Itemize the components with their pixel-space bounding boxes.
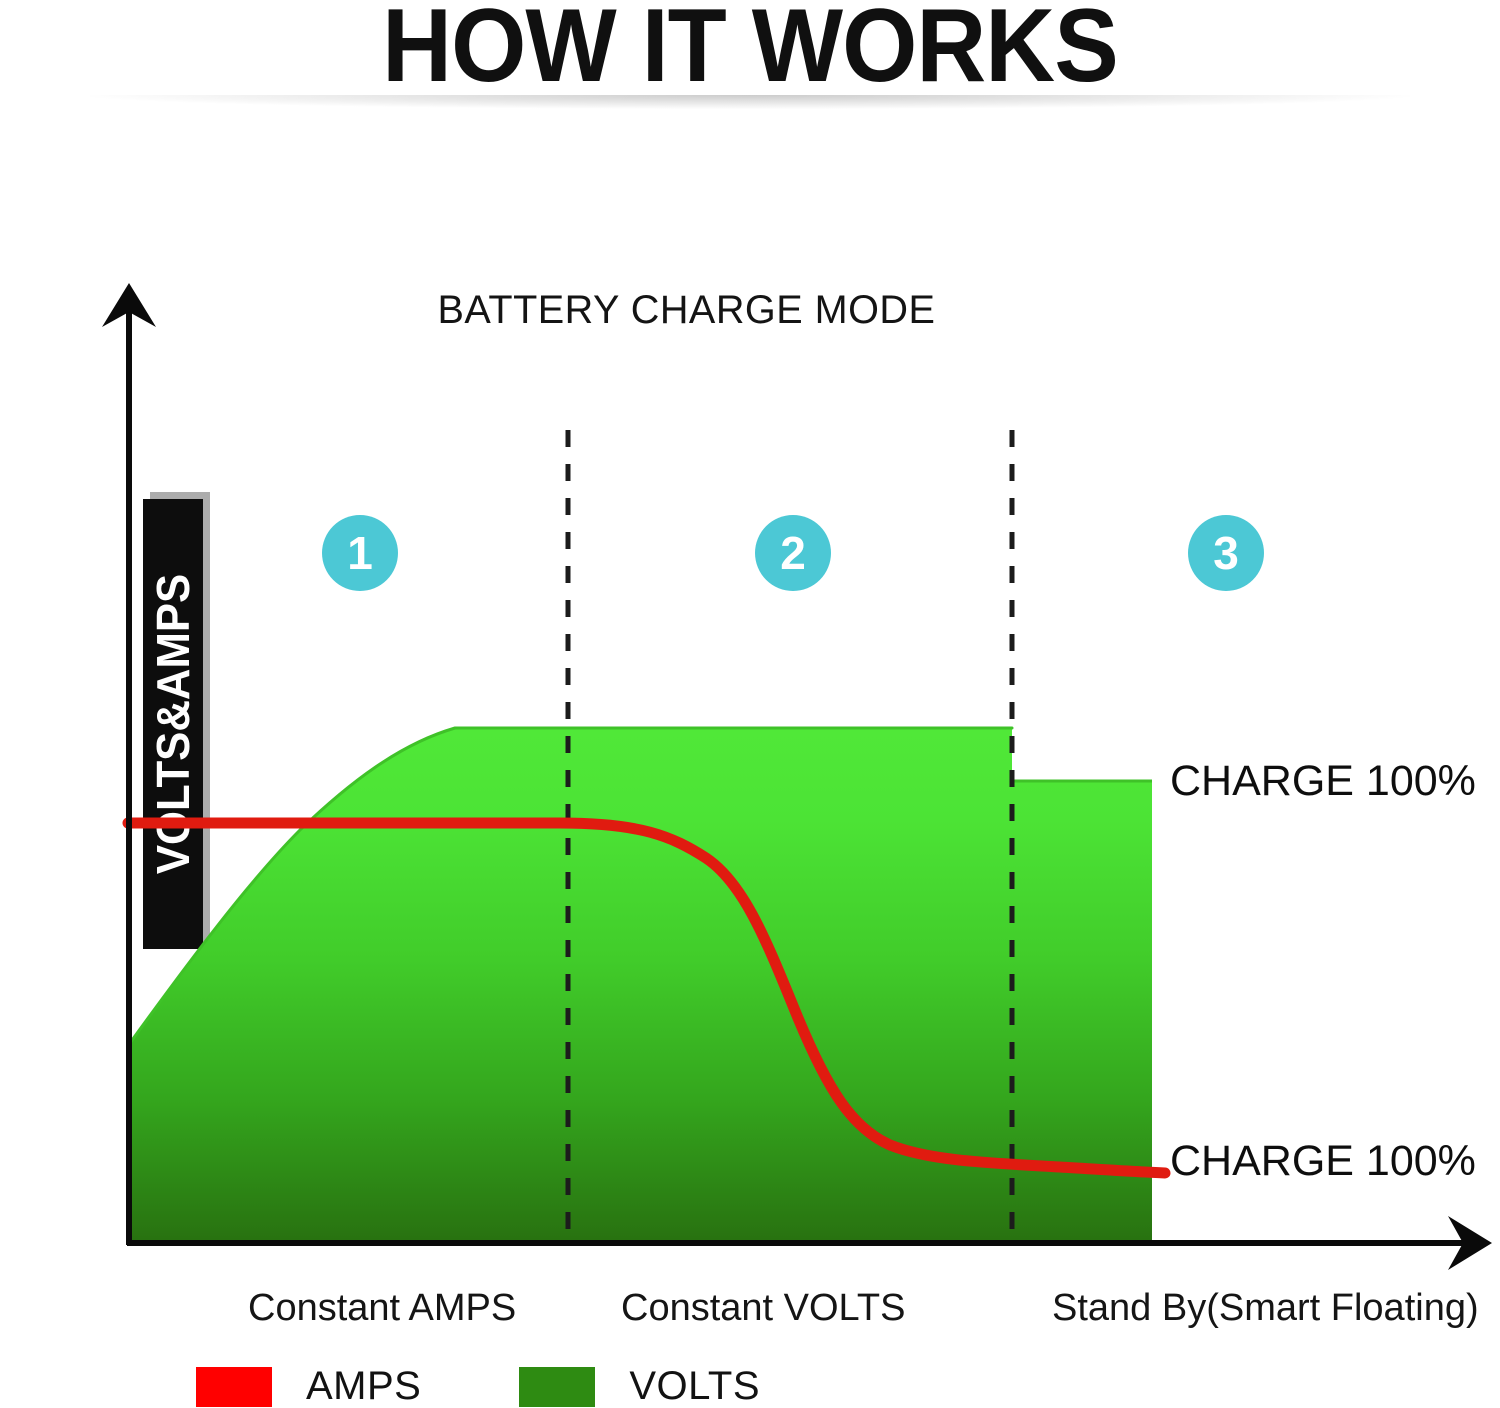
stage-badge-3-number: 3 [1213,530,1239,576]
chart-heading: BATTERY CHARGE MODE [438,288,936,333]
infographic-page: HOW IT WORKS VOLTS&AMPS [0,0,1500,1408]
legend-swatch-amps [196,1367,272,1407]
legend-item-volts: VOLTS [519,1364,760,1408]
legend-item-amps: AMPS [196,1364,519,1408]
legend-label-volts: VOLTS [629,1364,760,1408]
phase-label-stand-by: Stand By(Smart Floating) [1052,1287,1479,1330]
legend-label-amps: AMPS [306,1364,421,1408]
chart-legend: AMPS VOLTS [196,1364,760,1408]
stage-badge-2-number: 2 [780,530,806,576]
stage-badge-1-number: 1 [347,530,373,576]
amps-charge-annotation: CHARGE 100% [1170,1137,1476,1186]
stage-badge-2: 2 [755,515,831,591]
volts-charge-annotation: CHARGE 100% [1170,757,1476,806]
phase-label-constant-amps: Constant AMPS [248,1287,516,1330]
phase-label-constant-volts: Constant VOLTS [621,1287,905,1330]
stage-badge-3: 3 [1188,515,1264,591]
stage-badge-1: 1 [322,515,398,591]
legend-swatch-volts [519,1367,595,1407]
battery-charge-chart [0,0,1500,1408]
